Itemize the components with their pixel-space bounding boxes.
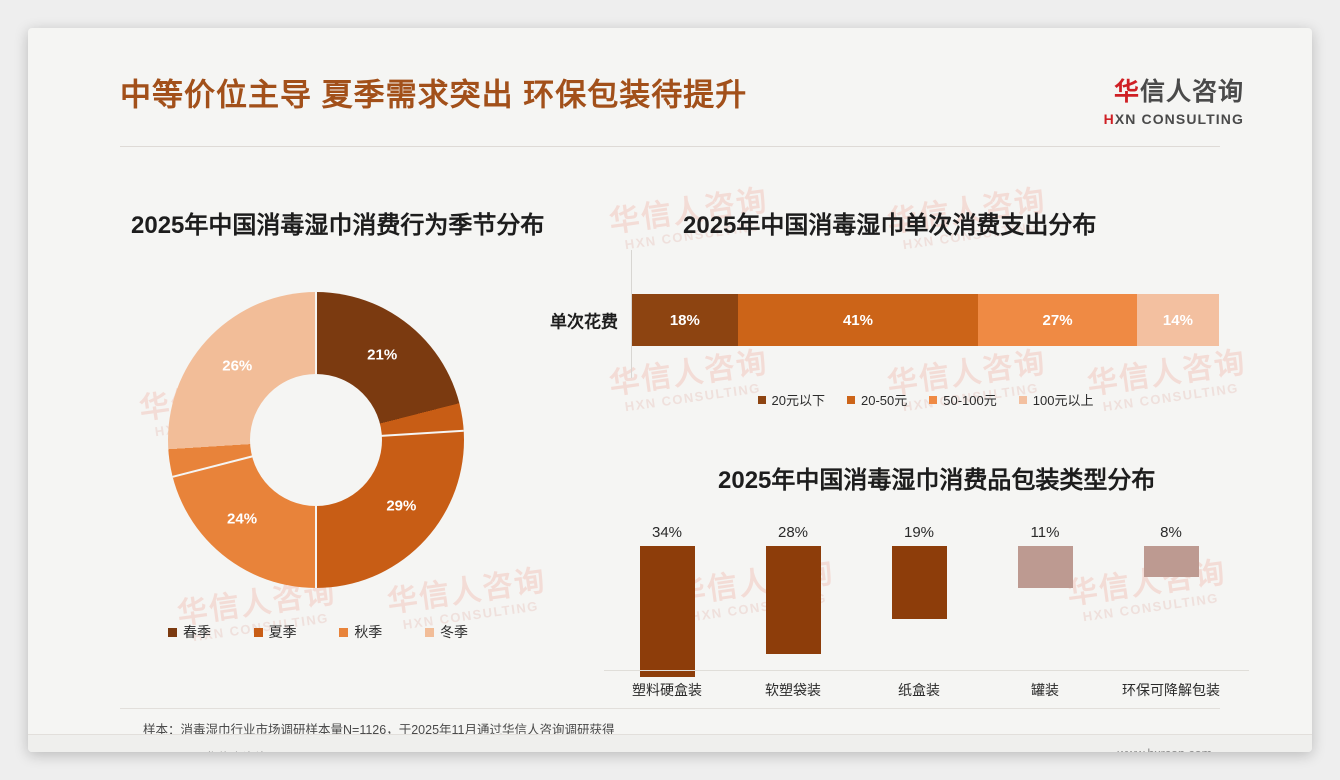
logo-chinese-text: 华信人咨询 (1104, 80, 1244, 105)
legend-item-冬季[interactable]: 冬季 (425, 622, 468, 642)
spending-category-label: 单次花费 (550, 308, 618, 333)
legend-item-20-50元[interactable]: 20-50元 (847, 390, 907, 409)
legend-swatch-icon (425, 628, 434, 637)
legend-item-20元以下[interactable]: 20元以下 (758, 390, 825, 409)
bar-group: 28% (730, 524, 856, 670)
legend-item-秋季[interactable]: 秋季 (339, 622, 382, 642)
bar-value-label: 19% (856, 524, 982, 541)
legend-label: 春季 (183, 622, 211, 642)
bar-group: 34% (604, 524, 730, 670)
legend-label: 100元以上 (1033, 390, 1094, 409)
stacked-bar-segment-100元以上[interactable]: 14% (1137, 294, 1219, 346)
packaging-chart-baseline (604, 670, 1249, 671)
legend-swatch-icon (254, 628, 263, 637)
stacked-bar-segment-20元以下[interactable]: 18% (632, 294, 738, 346)
bar-category-label: 罐装 (982, 680, 1108, 700)
logo-cn-rest: 信人咨询 (1140, 78, 1244, 106)
seasonal-distribution-legend: 春季夏季秋季冬季 (168, 622, 468, 642)
spending-category-label-box: 单次花费 (468, 294, 618, 346)
legend-item-50-100元[interactable]: 50-100元 (929, 390, 996, 409)
bar-category-label: 塑料硬盒装 (604, 680, 730, 700)
stacked-bar-segment-50-100元[interactable]: 27% (978, 294, 1136, 346)
seasonal-distribution-chart-title: 2025年中国消毒湿巾消费行为季节分布 (131, 205, 544, 240)
donut-segment-divider (315, 440, 317, 588)
donut-segment-value: 29% (386, 498, 416, 515)
bar-value-label: 34% (604, 524, 730, 541)
legend-swatch-icon (1019, 396, 1027, 404)
logo-en-accent-char: H (1104, 111, 1115, 127)
spending-distribution-legend: 20元以下20-50元50-100元100元以上 (632, 390, 1219, 409)
packaging-type-chart-title: 2025年中国消毒湿巾消费品包装类型分布 (718, 460, 1155, 495)
packaging-type-bar-chart: 34%28%19%11%8% (604, 500, 1234, 670)
legend-swatch-icon (847, 396, 855, 404)
legend-swatch-icon (929, 396, 937, 404)
bar-塑料硬盒装[interactable] (640, 546, 695, 677)
legend-label: 20元以下 (772, 390, 825, 409)
sample-divider (120, 708, 1220, 709)
bar-纸盒装[interactable] (892, 546, 947, 619)
bar-环保可降解包装[interactable] (1144, 546, 1199, 577)
bar-category-label: 软塑袋装 (730, 680, 856, 700)
page-title: 中等价位主导 夏季需求突出 环保包装待提升 (120, 70, 747, 115)
donut-segment-value: 21% (367, 346, 397, 363)
spending-stacked-bar: 18%41%27%14% (632, 294, 1219, 346)
slide-header: 中等价位主导 夏季需求突出 环保包装待提升 华信人咨询 HXN CONSULTI… (28, 28, 1312, 124)
legend-label: 20-50元 (861, 390, 907, 409)
logo-cn-accent-char: 华 (1114, 78, 1140, 106)
donut-segment-divider (315, 292, 317, 440)
donut-segment-value: 24% (227, 510, 257, 527)
legend-swatch-icon (339, 628, 348, 637)
bar-group: 19% (856, 524, 982, 670)
logo-en-rest: XN CONSULTING (1115, 111, 1244, 127)
bar-value-label: 28% (730, 524, 856, 541)
title-divider (120, 146, 1220, 147)
legend-item-春季[interactable]: 春季 (168, 622, 211, 642)
spending-distribution-chart-title: 2025年中国消毒湿巾单次消费支出分布 (683, 205, 1096, 240)
bar-罐装[interactable] (1018, 546, 1073, 588)
bar-category-label: 纸盒装 (856, 680, 982, 700)
stacked-bar-segment-20-50元[interactable]: 41% (738, 294, 979, 346)
legend-swatch-icon (168, 628, 177, 637)
bar-category-label: 环保可降解包装 (1108, 680, 1234, 700)
legend-label: 冬季 (440, 622, 468, 642)
bar-group: 11% (982, 524, 1108, 670)
bar-value-label: 11% (982, 524, 1108, 541)
slide-canvas: 华信人咨询HXN CONSULTING华信人咨询HXN CONSULTING华信… (28, 28, 1312, 752)
logo-english-text: HXN CONSULTING (1104, 112, 1244, 126)
legend-item-100元以上[interactable]: 100元以上 (1019, 390, 1094, 409)
legend-label: 夏季 (269, 622, 297, 642)
bar-value-label: 8% (1108, 524, 1234, 541)
website-link[interactable]: www.hxrcon.com (1118, 747, 1212, 752)
seasonal-distribution-donut-chart: 21%29%24%26% (168, 292, 464, 588)
legend-label: 秋季 (354, 622, 382, 642)
company-logo: 华信人咨询 HXN CONSULTING (1104, 80, 1244, 126)
bar-group: 8% (1108, 524, 1234, 670)
legend-item-夏季[interactable]: 夏季 (254, 622, 297, 642)
legend-swatch-icon (758, 396, 766, 404)
bar-软塑袋装[interactable] (766, 546, 821, 654)
donut-segment-value: 26% (222, 358, 252, 375)
copyright-text: ©2026.1 HXR华信人咨询 (128, 747, 268, 752)
legend-label: 50-100元 (943, 390, 996, 409)
